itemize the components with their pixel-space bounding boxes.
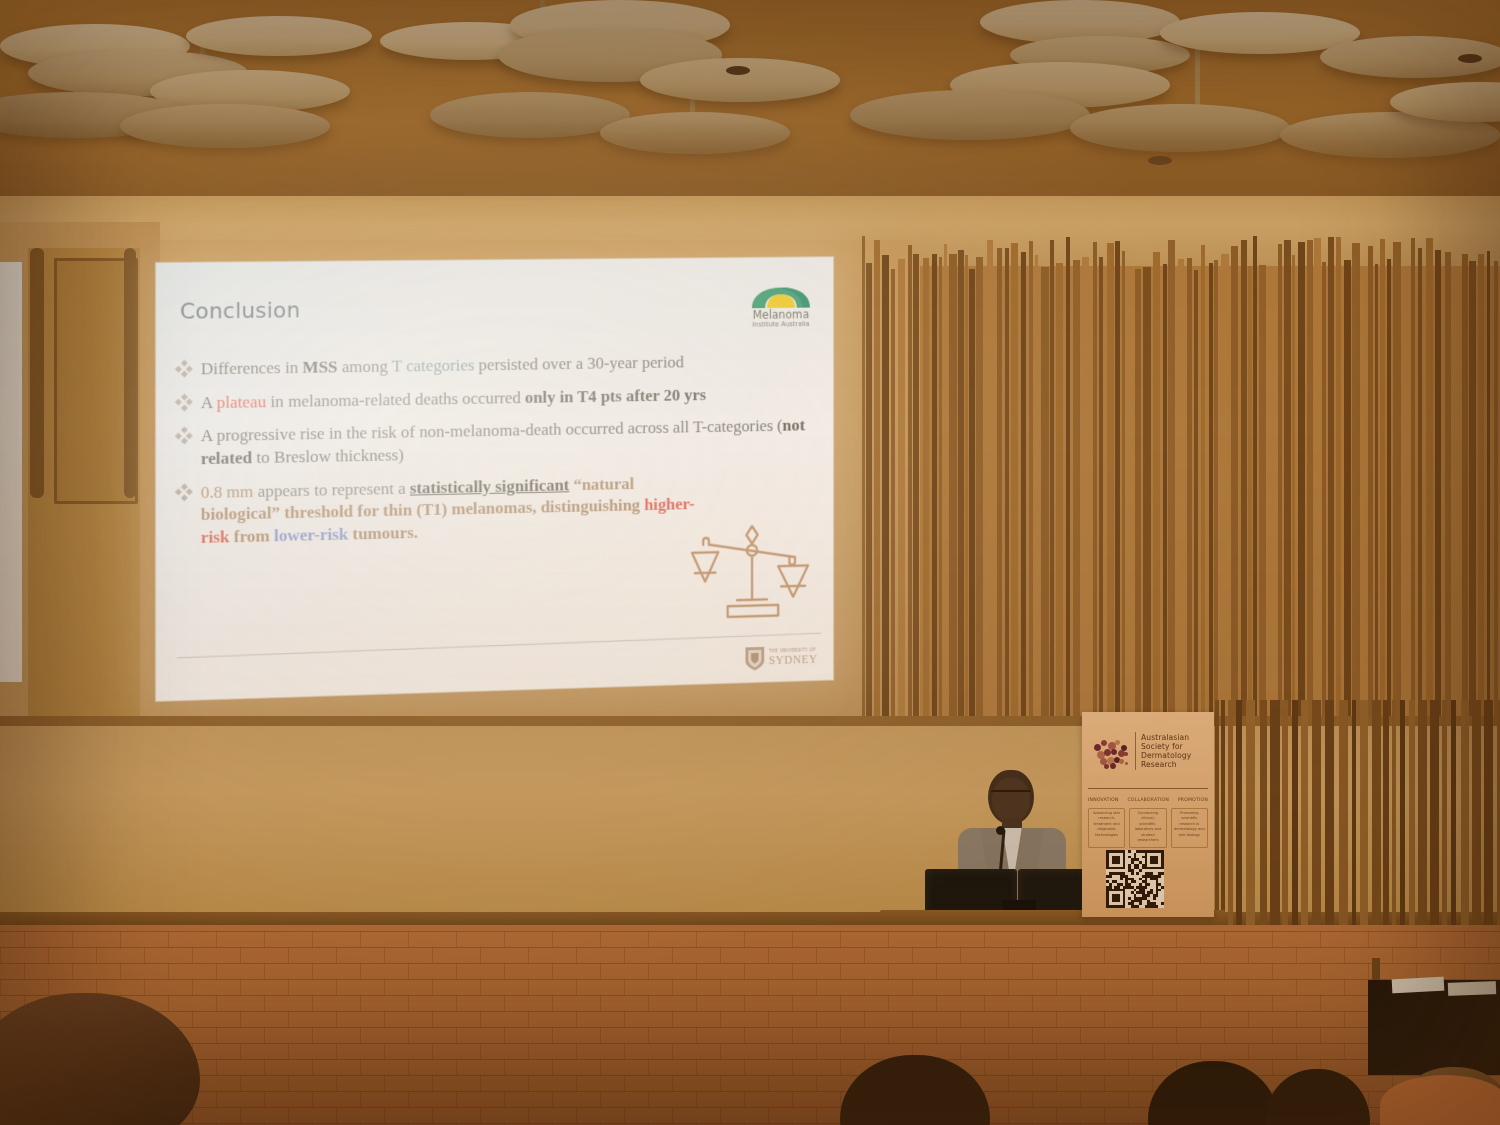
banner-org-line-1: Australasian <box>1141 733 1191 742</box>
banner-pillar-body-1: Advancing skin research, treatment and d… <box>1091 811 1122 838</box>
door-edge-left <box>30 248 44 498</box>
secondary-projection-screen <box>0 262 22 682</box>
banner-pillar-card-1: Advancing skin research, treatment and d… <box>1088 808 1125 848</box>
door-edge-right <box>124 248 136 498</box>
lecture-theatre-photo: Conclusion Melanoma Institute Australia <box>0 0 1500 1125</box>
room: Conclusion Melanoma Institute Australia <box>0 0 1500 1125</box>
banner-org-line-2: Society for <box>1141 742 1191 751</box>
table-paper-1 <box>1392 977 1445 994</box>
screen-border <box>155 256 834 702</box>
banner-pillar-heading-3: PROMOTION <box>1178 798 1208 803</box>
qr-code-icon[interactable] <box>1106 850 1164 908</box>
banner-org-line-3: Dermatology <box>1141 751 1191 760</box>
timber-batten-wall-lower <box>1215 700 1500 940</box>
banner-pillar-body-2: Connecting clinical, scientific, laborat… <box>1132 811 1163 843</box>
timber-batten-wall <box>862 222 1500 732</box>
australia-map-dots-icon <box>1088 732 1130 770</box>
banner-pillar-heading-2: COLLABORATION <box>1127 798 1168 803</box>
banner-pillar-card-2: Connecting clinical, scientific, laborat… <box>1129 808 1166 848</box>
presenter-glasses <box>991 790 1031 799</box>
ceiling-acoustic-discs <box>0 0 1500 215</box>
table-paper-2 <box>1448 981 1496 996</box>
microphone-icon <box>996 826 1005 835</box>
projection-screen: Conclusion Melanoma Institute Australia <box>155 256 834 702</box>
asdr-banner: Australasian Society for Dermatology Res… <box>1082 712 1214 917</box>
banner-pillar-card-3: Promoting scientific research in dermato… <box>1171 808 1208 848</box>
banner-org-line-4: Research <box>1141 760 1191 769</box>
banner-pillar-heading-1: INNOVATION <box>1088 798 1119 803</box>
presenter-face <box>992 778 1030 822</box>
banner-pillar-body-3: Promoting scientific research in dermato… <box>1174 811 1205 838</box>
